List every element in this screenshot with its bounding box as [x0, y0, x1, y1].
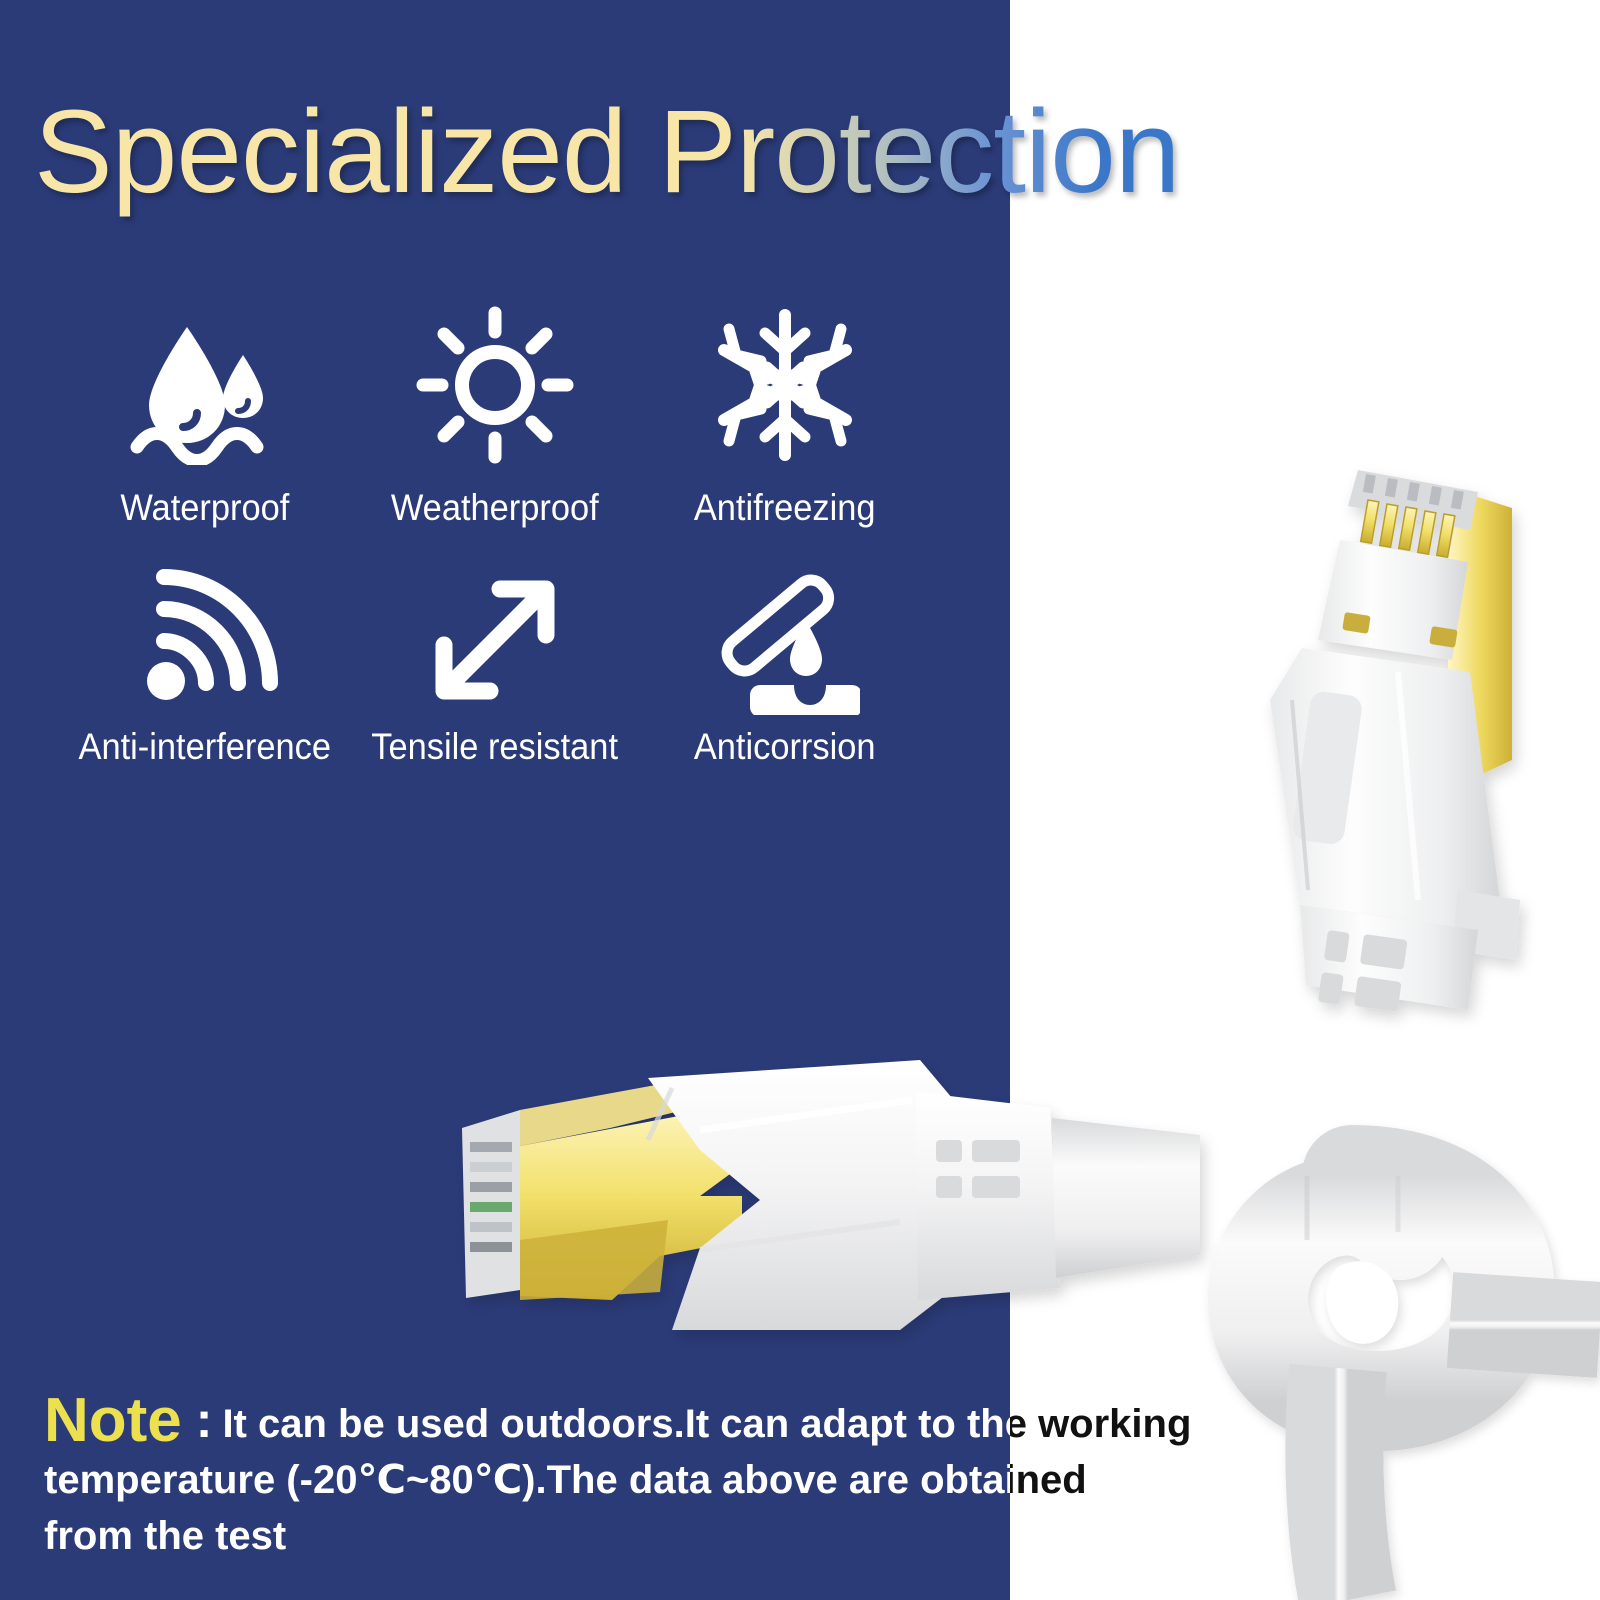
infographic-canvas: Specialized Protection Waterproof [0, 0, 1600, 1600]
feature-row-2: Anti-interference Tensile resistant [60, 565, 940, 795]
test-tube-drip-icon [710, 565, 860, 715]
sun-icon [415, 300, 575, 470]
note-line-2: temperature (-20℃~80℃).The data above ar… [44, 1452, 1224, 1508]
note-line-3: from the test [44, 1508, 1224, 1564]
white-background-panel [1010, 0, 1600, 1600]
feature-weatherproof: Weatherproof [350, 300, 640, 565]
blue-background-panel [0, 0, 1010, 1600]
feature-label: Anti-interference [79, 725, 331, 769]
double-arrow-diagonal-icon [420, 565, 570, 715]
feature-row-1: Waterproof [60, 300, 940, 565]
wifi-signal-icon [130, 565, 280, 715]
note-keyword: Note [44, 1386, 182, 1455]
snowflake-icon [705, 300, 865, 470]
note-line-1: Note:It can be used outdoors.It can adap… [44, 1392, 1224, 1452]
feature-anticorrosion: Anticorrsion [640, 565, 930, 795]
feature-tensile-resistant: Tensile resistant [350, 565, 640, 795]
note-text-1: It can be used outdoors.It can adapt to … [222, 1402, 1191, 1446]
feature-antifreezing: Antifreezing [640, 300, 930, 565]
note-separator: : [182, 1392, 223, 1448]
feature-grid: Waterproof [60, 300, 940, 795]
feature-label: Waterproof [121, 486, 290, 530]
feature-label: Antifreezing [694, 486, 876, 530]
feature-label: Weatherproof [391, 486, 599, 530]
note-block: Note:It can be used outdoors.It can adap… [44, 1392, 1224, 1564]
feature-label: Anticorrsion [694, 725, 876, 769]
page-title: Specialized Protection [34, 82, 1434, 222]
feature-waterproof: Waterproof [60, 300, 350, 565]
feature-anti-interference: Anti-interference [60, 565, 350, 795]
feature-label: Tensile resistant [372, 725, 619, 769]
water-drop-icon [125, 300, 285, 470]
